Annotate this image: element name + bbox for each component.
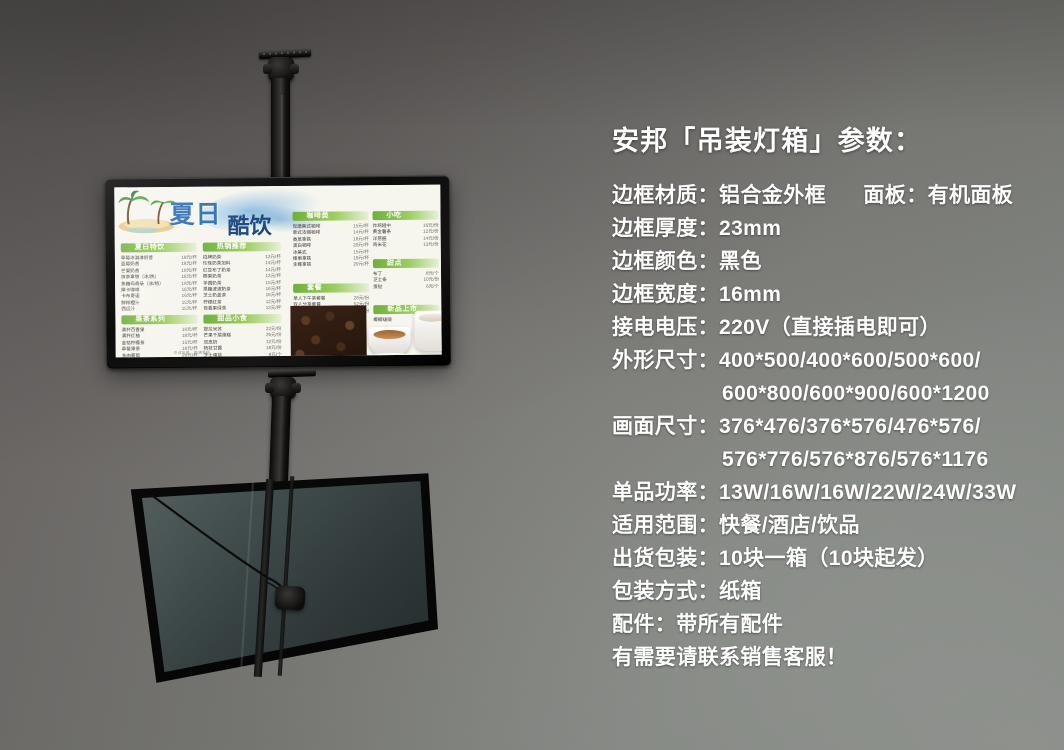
upper-light-box: 夏日 酷饮 夏日特饮 草莓冰淇淋奶昔18元/杯 蓝莓奶昔18元/杯 芒果奶昔18… [105,176,451,369]
spec-line: 有需要请联系销售客服！ [612,641,1052,674]
menu-section: 咖啡类 现磨美式咖啡15元/杯 意式浓缩咖啡14元/杯 香草拿铁18元/杯 澳白… [292,211,368,269]
spec-line: 出货包装：10块一箱（10块起发） [612,542,1052,575]
menu-section-heading: 热销推荐 [203,242,281,252]
menu-section-heading: 夏日特饮 [121,243,197,253]
spec-line: 边框材质：铝合金外框 面板：有机面板 [612,179,1052,212]
menu-row: 鸡米花13元/份 [373,242,439,249]
menu-section-heading-text: 咖啡类 [306,211,329,221]
menu-item-list: 现磨美式咖啡15元/杯 意式浓缩咖啡14元/杯 香草拿铁18元/杯 澳白咖啡20… [293,223,369,269]
coffee-cup-front [368,327,410,357]
menu-section-heading-text: 果茶系列 [135,314,165,324]
spec-line: 单品功率：13W/16W/16W/22W/24W/33W [612,476,1052,509]
spec-line: 600*800/600*900/600*1200 [612,377,1052,410]
menu-section-heading-text: 套餐 [307,283,322,293]
menu-section: 甜点 布丁8元/个 芝士条10元/份 蛋挞6元/个 [373,259,439,291]
coffee-beans-image [290,305,367,357]
menu-section-heading: 甜点 [373,259,439,269]
menu-item-list: 布丁8元/个 芝士条10元/份 蛋挞6元/个 [373,271,439,291]
spec-line: 配件：带所有配件 [612,608,1052,641]
menu-section-heading-text: 小吃 [386,210,401,220]
upper-pole-seam [281,95,283,182]
menu-item-list: 招牌奶茶12元/杯 珍珠奶茶加料14元/杯 红豆布丁奶茶14元/杯 椰果奶茶13… [203,254,282,312]
menu-item-list: 炸鸡翅中16元/份 黄金薯条12元/份 洋葱圈14元/份 鸡米花13元/份 [373,223,439,249]
spec-line: 接电电压：220V（直接插电即可） [612,311,1052,344]
spec-line: 边框厚度：23mm [612,212,1052,245]
menu-section-heading: 小吃 [372,211,438,221]
spec-line: 适用范围：快餐/酒店/饮品 [612,509,1052,542]
menu-row: 蛋挞6元/个 [373,283,439,290]
menu-row: 生椰拿铁20元/杯 [293,262,369,269]
spec-line: 576*776/576*876/576*1176 [612,443,1052,476]
menu-section: 小吃 炸鸡翅中16元/份 黄金薯条12元/份 洋葱圈14元/份 鸡米花13元/份 [372,211,438,249]
menu-item-list: 草莓冰淇淋奶昔18元/杯 蓝莓奶昔18元/杯 芒果奶昔18元/杯 抹茶拿铁（冰/… [121,255,198,313]
spec-line: 包装方式：纸箱 [612,575,1052,608]
menu-section-heading-text: 热销推荐 [217,241,247,251]
menu-section-heading: 咖啡类 [292,211,368,221]
menu-section: 夏日特饮 草莓冰淇淋奶昔18元/杯 蓝莓奶昔18元/杯 芒果奶昔18元/杯 抹茶… [121,243,198,313]
menu-section-heading-text: 甜点 [387,258,402,268]
menu-footer-note: 欢迎品尝 · 敬请惠顾 [174,351,210,356]
menu-title-line2: 酷饮 [227,208,271,240]
menu-section: 热销推荐 招牌奶茶12元/杯 珍珠奶茶加料14元/杯 红豆布丁奶茶14元/杯 椰… [203,242,282,312]
rear-swivel-hub [274,585,306,611]
menu-section-heading: 甜品小食 [203,314,281,324]
menu-section-heading-text: 甜品小食 [217,313,247,323]
menu-artwork: 夏日 酷饮 夏日特饮 草莓冰淇淋奶昔18元/杯 蓝莓奶昔18元/杯 芒果奶昔18… [114,185,441,358]
coffee-photo [290,304,441,357]
power-cable [118,470,438,685]
menu-section: 甜品小食 提拉米苏22元/份 芒果千层蛋糕26元/份 双皮奶12元/份 杨枝甘露… [203,314,281,357]
spec-line: 外形尺寸：400*500/400*600/500*600/ [612,344,1052,377]
spec-line: 画面尺寸：376*476/376*576/476*576/ [612,410,1052,443]
spec-line: 边框宽度：16mm [612,278,1052,311]
menu-item-list: 提拉米苏22元/份 芒果千层蛋糕26元/份 双皮奶12元/份 杨枝甘露18元/份… [203,326,281,357]
menu-section-heading-text: 夏日特饮 [135,242,165,252]
lower-light-box-rear [118,470,438,685]
specification-panel: 安邦「吊装灯箱」参数： 边框材质：铝合金外框 面板：有机面板 边框厚度：23mm… [612,128,1052,674]
coffee-cup-back [414,310,441,350]
spec-title: 安邦「吊装灯箱」参数： [612,128,1052,155]
light-box-face: 夏日 酷饮 夏日特饮 草莓冰淇淋奶昔18元/杯 蓝莓奶昔18元/杯 芒果奶昔18… [114,185,441,358]
spec-line: 边框颜色：黑色 [612,245,1052,278]
menu-row: 西瓜汁15元/杯 [121,306,197,313]
menu-section-heading: 套餐 [293,283,369,293]
product-photo-scene: 夏日 酷饮 夏日特饮 草莓冰淇淋奶昔18元/杯 蓝莓奶昔18元/杯 芒果奶昔18… [0,0,1064,750]
menu-title-line1: 夏日 [169,194,221,230]
menu-section-heading: 果茶系列 [121,315,197,325]
menu-row: 百香果绿茶13元/杯 [203,305,281,312]
